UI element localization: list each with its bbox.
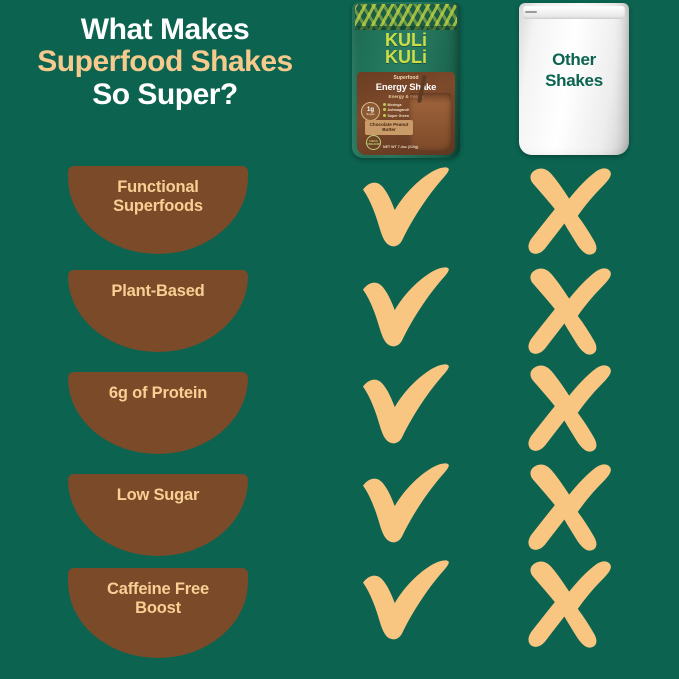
headline-line-3: So Super? bbox=[0, 79, 330, 111]
sugar-badge-unit: Sugar bbox=[366, 113, 375, 116]
product-badges: 1g Sugar Moringa Ashwagandha Super Green… bbox=[361, 102, 412, 121]
headline-line-1: What Makes bbox=[0, 14, 330, 46]
check-mark-icon-6g-of-protein-kuli bbox=[358, 366, 454, 452]
feature-label-functional-superfoods: FunctionalSuperfoods bbox=[113, 166, 203, 216]
pouch-top-seal bbox=[523, 6, 625, 19]
cross-mark-icon-low-sugar-other bbox=[527, 462, 619, 554]
pouch-body: Other Shakes bbox=[519, 3, 629, 155]
other-shakes-label: Other Shakes bbox=[519, 49, 629, 92]
check-mark-icon-functional-superfoods-kuli bbox=[358, 169, 454, 255]
ingredient-item: Super Greens bbox=[383, 114, 412, 119]
cross-mark-icon-plant-based-other bbox=[527, 266, 619, 358]
ingredient-list: Moringa Ashwagandha Super Greens bbox=[383, 102, 412, 119]
check-mark-icon-low-sugar-kuli bbox=[358, 465, 454, 551]
cross-mark-icon-6g-of-protein-other bbox=[527, 363, 619, 455]
feature-label-caffeine-free-boost: Caffeine FreeBoost bbox=[107, 568, 209, 618]
infographic-root: What Makes Superfood Shakes So Super? KU… bbox=[0, 0, 679, 679]
bullet-dot-icon bbox=[383, 108, 386, 111]
feature-blob-low-sugar: Low Sugar bbox=[68, 474, 248, 556]
flavor-label: Chocolate Peanut Butter bbox=[365, 120, 413, 135]
product-title: Energy Shake bbox=[357, 82, 455, 93]
product-package-other-shakes: Other Shakes bbox=[519, 3, 629, 155]
feature-label-6g-of-protein: 6g of Protein bbox=[109, 372, 207, 403]
bullet-dot-icon bbox=[383, 114, 386, 117]
pouch-front-panel: Superfood Energy Shake Energy & Focus 1g… bbox=[357, 72, 455, 155]
headline-line-2: Superfood Shakes bbox=[0, 46, 330, 78]
cross-mark-icon-functional-superfoods-other bbox=[527, 166, 619, 258]
feature-blob-functional-superfoods: FunctionalSuperfoods bbox=[68, 166, 248, 254]
bullet-dot-icon bbox=[383, 103, 386, 106]
net-weight-text: NET WT 7.4oz (210g) bbox=[383, 145, 418, 149]
cross-mark-icon-caffeine-free-boost-other bbox=[527, 559, 619, 651]
sugar-badge: 1g Sugar bbox=[361, 102, 380, 121]
feature-label-low-sugar: Low Sugar bbox=[117, 474, 200, 505]
product-package-kuli-kuli: KULi KULi Superfood Energy Shake Energy … bbox=[352, 2, 460, 158]
headline: What Makes Superfood Shakes So Super? bbox=[0, 14, 330, 111]
pouch-body: KULi KULi Superfood Energy Shake Energy … bbox=[352, 2, 460, 158]
check-mark-icon-plant-based-kuli bbox=[358, 269, 454, 355]
brand-logo-line-2: KULi bbox=[385, 47, 427, 67]
feature-label-plant-based: Plant-Based bbox=[111, 270, 204, 301]
other-shakes-label-line-1: Other bbox=[552, 50, 596, 69]
other-shakes-label-line-2: Shakes bbox=[545, 71, 603, 90]
brand-logo: KULi KULi bbox=[352, 32, 460, 65]
pouch-top-pattern bbox=[355, 4, 457, 30]
check-mark-icon-caffeine-free-boost-kuli bbox=[358, 562, 454, 648]
chocolate-shake-glass-image bbox=[409, 93, 451, 151]
feature-blob-caffeine-free-boost: Caffeine FreeBoost bbox=[68, 568, 248, 658]
feature-blob-plant-based: Plant-Based bbox=[68, 270, 248, 352]
usda-organic-seal-icon: USDA ORGANIC bbox=[366, 135, 381, 150]
feature-blob-6g-of-protein: 6g of Protein bbox=[68, 372, 248, 454]
product-eyebrow: Superfood bbox=[357, 75, 455, 81]
